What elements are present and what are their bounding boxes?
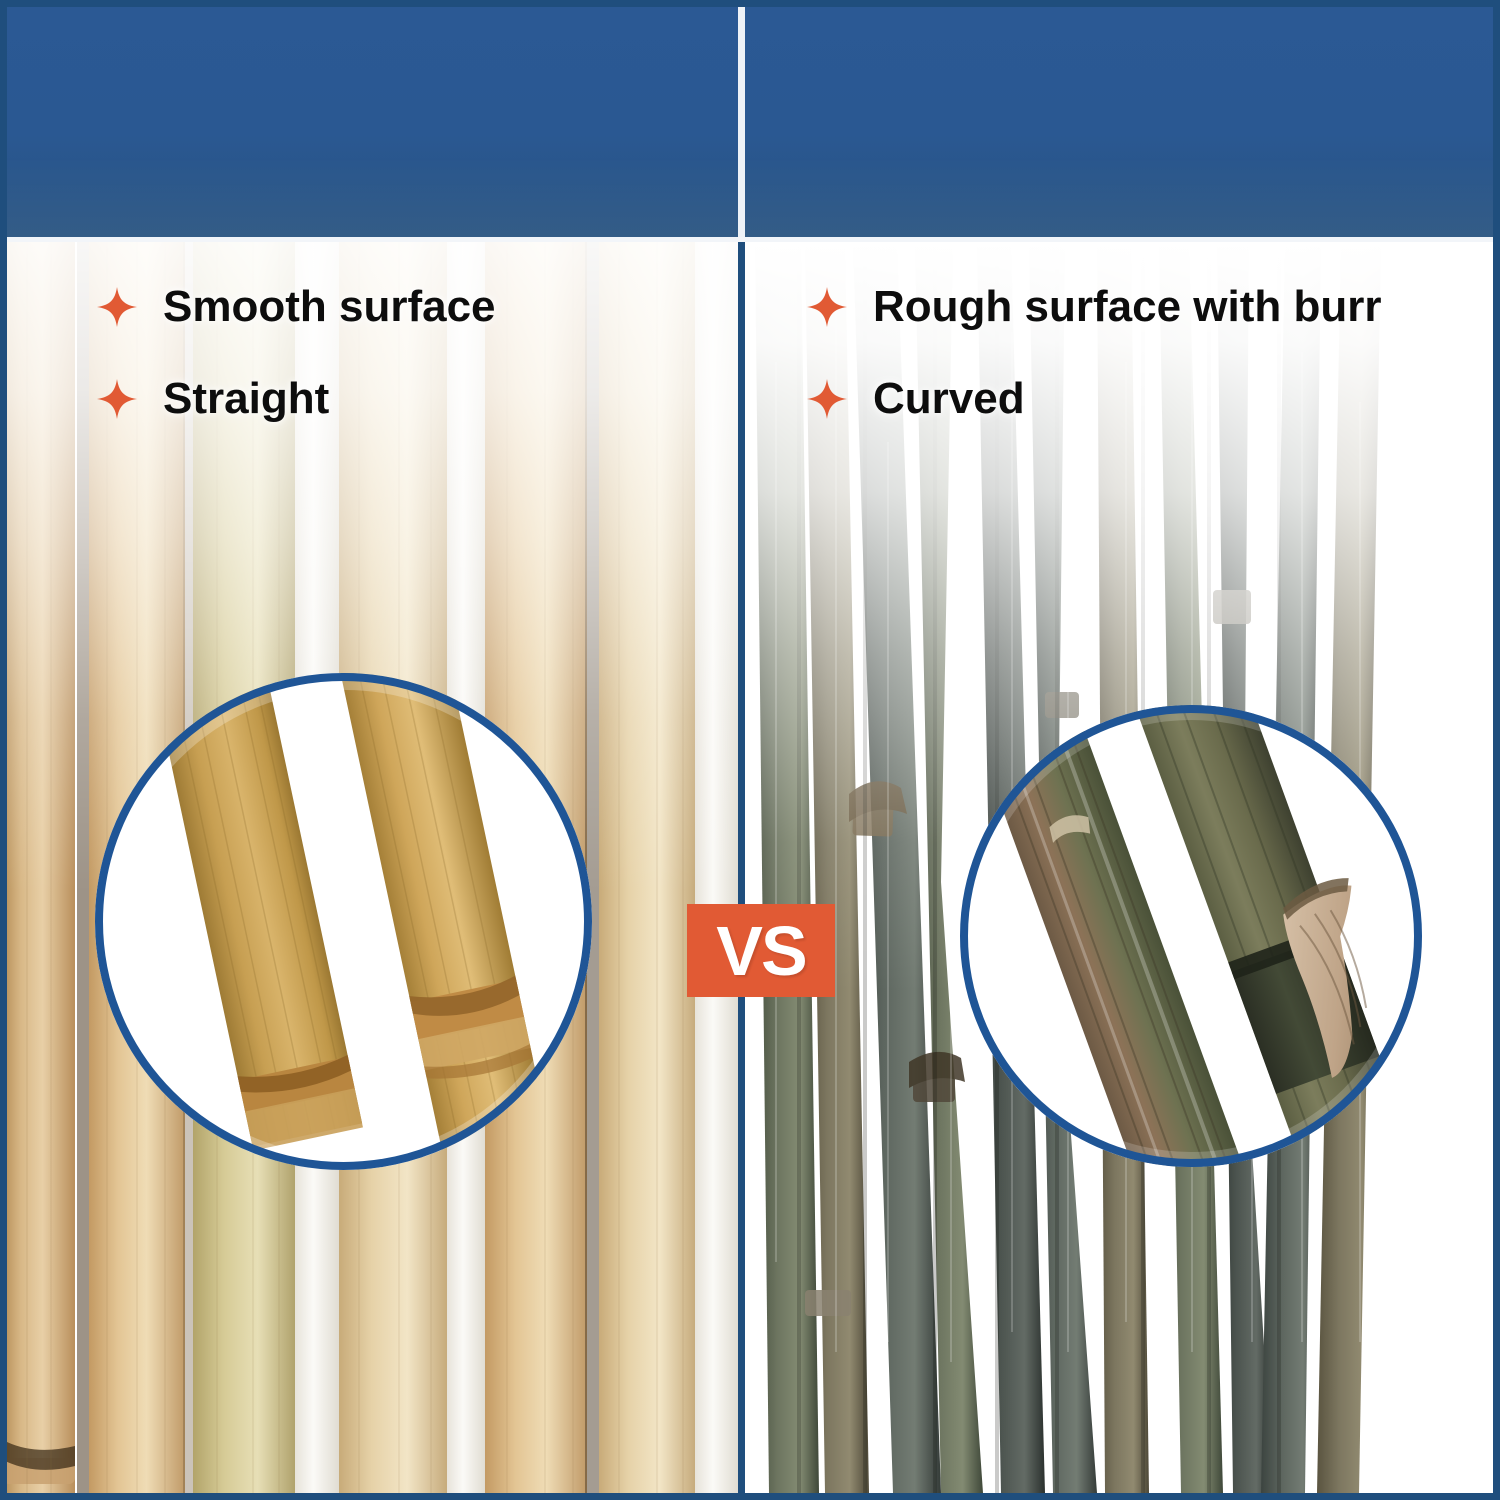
bullet-list-others: Rough surface with burr Curved — [807, 282, 1381, 466]
vs-label: VS — [716, 916, 805, 986]
bullet-list-ours: Smooth surface Straight — [97, 282, 496, 466]
list-item: Smooth surface — [97, 282, 496, 332]
four-point-star-icon — [807, 287, 847, 327]
header-bottom-rule — [7, 237, 1493, 242]
list-item: Straight — [97, 374, 496, 424]
vs-badge: VS — [687, 904, 835, 997]
four-point-star-icon — [97, 287, 137, 327]
four-point-star-icon — [97, 379, 137, 419]
bullet-label: Smooth surface — [163, 282, 496, 332]
panel-divider — [738, 242, 745, 1493]
bullet-label: Curved — [873, 374, 1025, 424]
four-point-star-icon — [807, 379, 847, 419]
bullet-label: Rough surface with burr — [873, 282, 1381, 332]
magnifier-others — [960, 705, 1422, 1167]
zoomed-smooth-cane-image — [95, 673, 592, 1170]
zoomed-rough-burr-cane-image — [960, 705, 1422, 1167]
comparison-infographic: Ours Others — [0, 0, 1500, 1500]
list-item: Curved — [807, 374, 1381, 424]
header-band — [7, 7, 1493, 237]
header-sheen — [7, 157, 1493, 237]
bullet-label: Straight — [163, 374, 329, 424]
magnifier-ours — [95, 673, 592, 1170]
header-divider — [738, 7, 745, 237]
list-item: Rough surface with burr — [807, 282, 1381, 332]
